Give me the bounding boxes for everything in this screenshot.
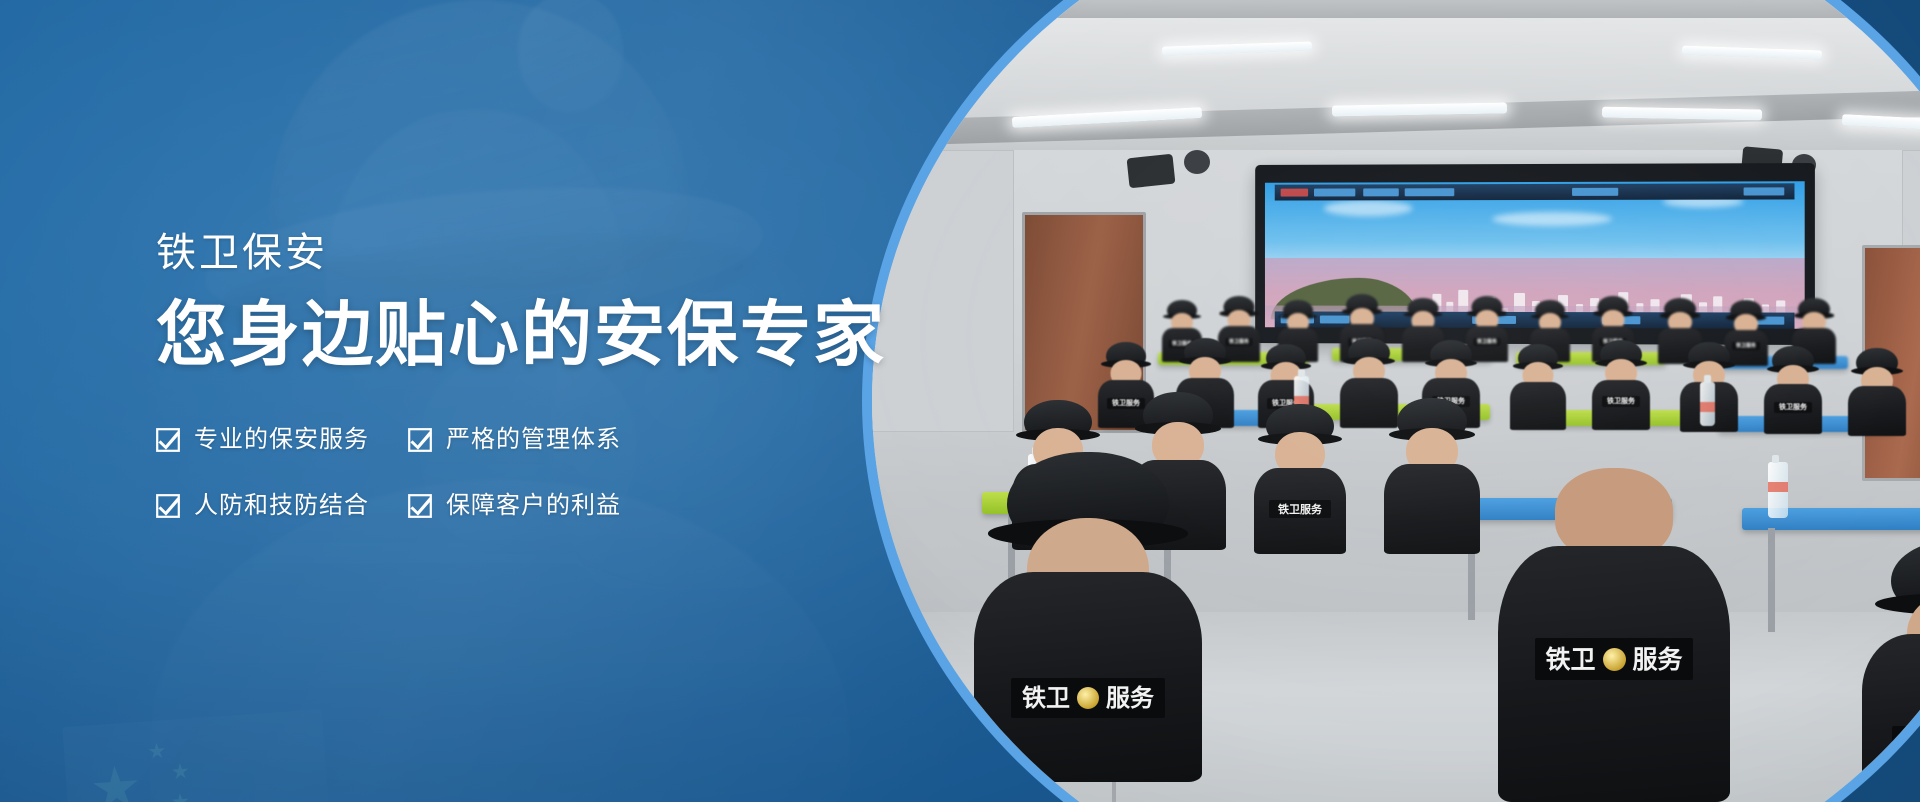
checkbox-checked-icon bbox=[156, 494, 180, 518]
training-photo: 铁卫服务 铁卫服务 铁卫服务 bbox=[872, 0, 1920, 802]
foreground-guard: 铁卫 服务 bbox=[974, 452, 1202, 782]
foreground-guard: 铁卫 服务 bbox=[1498, 468, 1730, 802]
checkbox-checked-icon bbox=[408, 428, 432, 452]
uniform-patch-left: 铁卫 bbox=[1022, 686, 1070, 710]
feature-label: 严格的管理体系 bbox=[446, 428, 621, 452]
speaker-icon bbox=[1127, 154, 1176, 189]
uniform-patch: 铁卫 服务 bbox=[1535, 638, 1693, 680]
classroom-scene: 铁卫服务 铁卫服务 铁卫服务 bbox=[872, 0, 1920, 802]
checkbox-checked-icon bbox=[156, 428, 180, 452]
checkbox-checked-icon bbox=[408, 494, 432, 518]
uniform-patch-left: 铁卫 bbox=[1545, 647, 1595, 672]
uniform-patch-right: 服务 bbox=[1633, 647, 1683, 672]
feature-label: 保障客户的利益 bbox=[446, 494, 621, 518]
feature-item: 保障客户的利益 bbox=[408, 494, 776, 518]
hero-headline: 您身边贴心的安保专家 bbox=[156, 296, 896, 376]
feature-item: 人防和技防结合 bbox=[156, 494, 408, 518]
feature-label: 人防和技防结合 bbox=[194, 494, 369, 518]
feature-item: 专业的保安服务 bbox=[156, 428, 408, 452]
crown-emblem-icon bbox=[1077, 687, 1099, 709]
uniform-patch-right: 服务 bbox=[1106, 686, 1154, 710]
speaker-icon bbox=[1184, 150, 1210, 174]
hero-text-column: 铁卫保安 您身边贴心的安保专家 专业的保安服务 bbox=[156, 228, 896, 518]
feature-item: 严格的管理体系 bbox=[408, 428, 776, 452]
uniform-patch: 铁卫 服务 bbox=[1011, 678, 1165, 718]
feature-list: 专业的保安服务 严格的管理体系 人防和技防结 bbox=[156, 428, 776, 518]
brand-name: 铁卫保安 bbox=[156, 228, 896, 278]
crown-emblem-icon bbox=[1603, 648, 1626, 671]
feature-label: 专业的保安服务 bbox=[194, 428, 369, 452]
hero-banner: 铁卫服务 铁卫服务 铁卫服务 bbox=[0, 0, 1920, 802]
